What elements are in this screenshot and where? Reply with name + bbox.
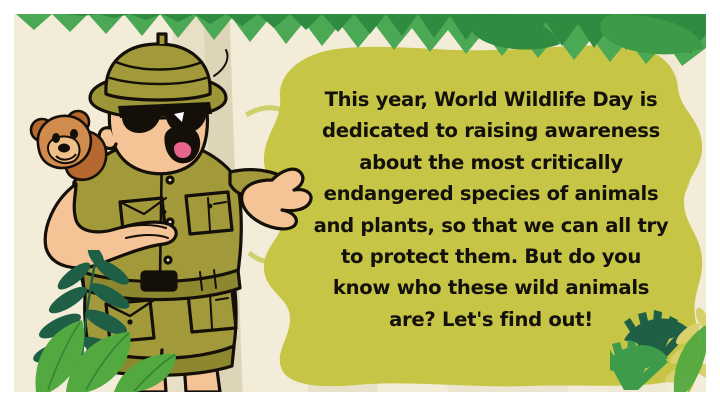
bubble-line: about the most critically	[294, 147, 688, 178]
bubble-line: dedicated to raising awareness	[294, 115, 688, 146]
monkey-on-shoulder	[22, 100, 114, 192]
bubble-line: and plants, so that we can all try	[294, 210, 688, 241]
fan-palm-cluster	[610, 300, 706, 392]
fern-and-leaf-cluster	[30, 250, 220, 392]
bubble-line: to protect them. But do you	[294, 241, 688, 272]
speech-bubble-text: This year, World Wildlife Day is dedicat…	[294, 84, 688, 335]
poster-canvas: This year, World Wildlife Day is dedicat…	[0, 0, 720, 405]
bubble-line: endangered species of animals	[294, 178, 688, 209]
artwork-frame: This year, World Wildlife Day is dedicat…	[14, 14, 706, 392]
jungle-canopy-border	[14, 14, 706, 78]
bubble-line: This year, World Wildlife Day is	[294, 84, 688, 115]
